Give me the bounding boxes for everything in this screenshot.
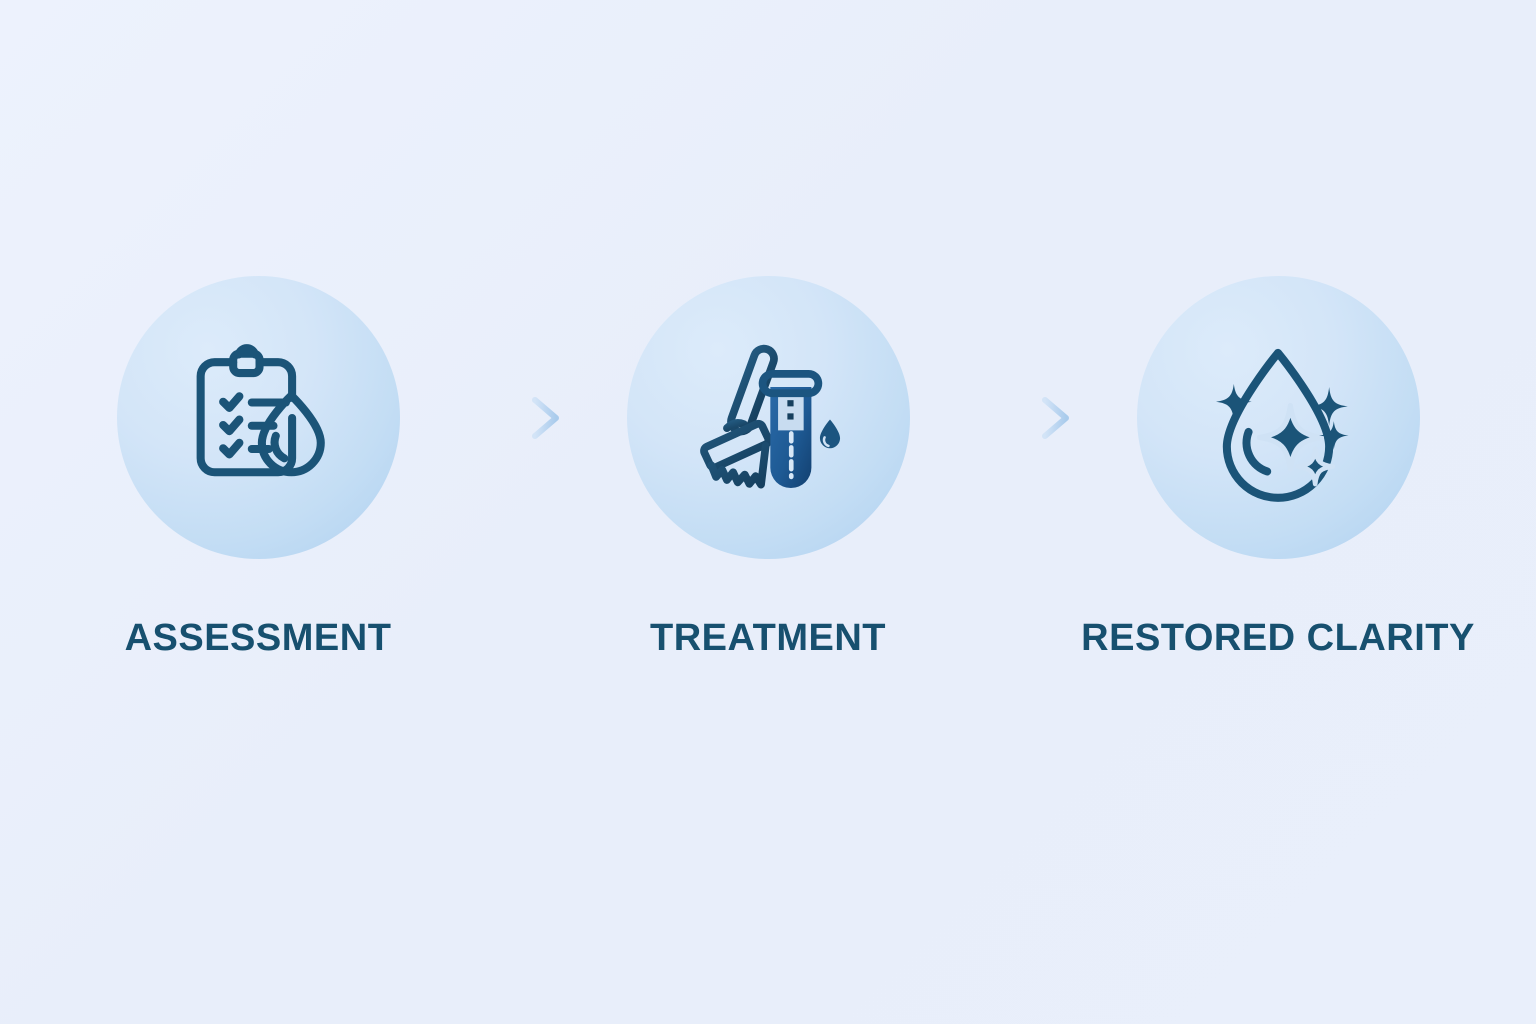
step-icon-badge [117, 276, 400, 559]
clipboard-checklist-droplet-icon [165, 325, 351, 511]
step-label: TREATMENT [650, 619, 886, 657]
process-step-treatment[interactable]: TREATMENT [603, 276, 933, 657]
arrow-right-icon [459, 392, 567, 444]
sparkle-top-left [1216, 383, 1252, 419]
arrow-right-icon [969, 392, 1077, 444]
connector-arrow-2 [933, 276, 1113, 559]
step-icon-badge [627, 276, 910, 559]
step-label: ASSESSMENT [125, 619, 392, 657]
sparkle-top-right [1311, 387, 1348, 426]
process-flow: ASSESSMENT [0, 276, 1536, 676]
connector-arrow-1 [423, 276, 603, 559]
process-step-restored-clarity[interactable]: RESTORED CLARITY [1113, 276, 1443, 657]
step-icon-badge [1137, 276, 1420, 559]
broom-test-tube-icon [675, 325, 861, 511]
droplet-accent [820, 419, 840, 448]
step-label: RESTORED CLARITY [1081, 619, 1475, 657]
sparkling-droplet-icon [1185, 325, 1371, 511]
process-step-assessment[interactable]: ASSESSMENT [93, 276, 423, 657]
infographic-stage: ASSESSMENT [0, 0, 1536, 1024]
